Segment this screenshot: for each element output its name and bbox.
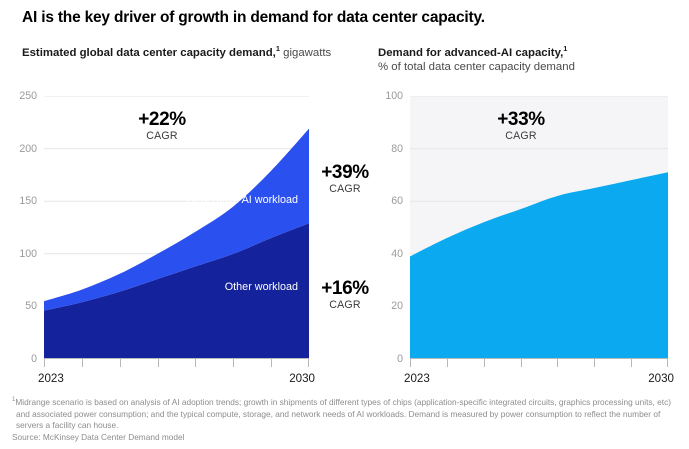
- advanced-ai-share-xtick-mark: [484, 359, 485, 367]
- capacity-demand-xtick-mark: [271, 359, 272, 367]
- total-cagr-label: CAGR: [108, 131, 216, 142]
- other-cagr-label: CAGR: [306, 300, 384, 311]
- advanced-ai-share-xtick-end: 2030: [648, 372, 674, 385]
- total-cagr-value: +22%: [108, 110, 216, 129]
- footnotes: 1Midrange scenario is based on analysis …: [12, 396, 678, 444]
- advanced-ai-share-xtick-mark: [447, 359, 448, 367]
- capacity-demand-ytick-50: 50: [25, 300, 37, 312]
- advanced-ai-share-xtick-mark: [667, 359, 668, 367]
- capacity-demand-ytick-250: 250: [19, 90, 37, 102]
- genai-cagr-annotation: +39% CAGR: [306, 163, 384, 195]
- advanced-ai-share-ytick-40: 40: [391, 248, 403, 260]
- advanced-ai-share-xtick-mark: [557, 359, 558, 367]
- generative-ai-series-label: Generative AI workload: [180, 194, 298, 207]
- left-chart-title: Estimated global data center capacity de…: [22, 44, 342, 61]
- capacity-demand-xtick-end: 2030: [289, 372, 315, 385]
- advanced-ai-share-xtick-mark: [631, 359, 632, 367]
- infographic-root: AI is the key driver of growth in demand…: [0, 0, 689, 449]
- page-title: AI is the key driver of growth in demand…: [22, 8, 662, 27]
- capacity-demand-xtick-mark: [158, 359, 159, 367]
- capacity-demand-xtick-mark: [82, 359, 83, 367]
- footnote-1: 1Midrange scenario is based on analysis …: [12, 396, 678, 432]
- capacity-demand-xtick-mark: [195, 359, 196, 367]
- advanced-ai-share-xtick-mark: [594, 359, 595, 367]
- advanced-ai-share-ytick-0: 0: [397, 353, 403, 365]
- capacity-demand-xtick-mark: [120, 359, 121, 367]
- advanced-ai-share-xtick-start: 2023: [404, 372, 430, 385]
- other-cagr-annotation: +16% CAGR: [306, 279, 384, 311]
- capacity-demand-xtick-mark: [44, 359, 45, 367]
- right-chart-title: Demand for advanced-AI capacity,1: [378, 44, 668, 61]
- capacity-demand-xtick-mark: [308, 359, 309, 367]
- capacity-demand-ytick-200: 200: [19, 143, 37, 155]
- footnote-1-text: Midrange scenario is based on analysis o…: [15, 397, 671, 431]
- left-chart-title-unit: gigawatts: [280, 47, 331, 59]
- advanced-ai-share-xtick-mark: [410, 359, 411, 367]
- capacity-demand-ytick-0: 0: [31, 353, 37, 365]
- advanced-ai-share-ytick-20: 20: [391, 300, 403, 312]
- total-cagr-annotation: +22% CAGR: [108, 110, 216, 142]
- source-line: Source: McKinsey Data Center Demand mode…: [12, 432, 678, 444]
- capacity-demand-ytick-150: 150: [19, 195, 37, 207]
- right-chart-heading: Demand for advanced-AI capacity,1 % of t…: [378, 44, 668, 73]
- right-chart-title-text: Demand for advanced-AI capacity,: [378, 47, 563, 59]
- advanced-ai-share-ytick-60: 60: [391, 195, 403, 207]
- genai-cagr-label: CAGR: [306, 184, 384, 195]
- capacity-demand-xtick-mark: [233, 359, 234, 367]
- right-chart-title-footnote-marker: 1: [563, 44, 567, 53]
- advanced-ai-share-xtick-mark: [521, 359, 522, 367]
- other-workload-series-label: Other workload: [196, 281, 298, 294]
- advanced-ai-share-ytick-100: 100: [385, 90, 403, 102]
- capacity-demand-x-ticks: [44, 359, 309, 368]
- other-cagr-value: +16%: [306, 279, 384, 298]
- advanced-cagr-annotation: +33% CAGR: [466, 110, 576, 142]
- left-chart-heading: Estimated global data center capacity de…: [22, 44, 342, 61]
- advanced-ai-share-x-ticks: [410, 359, 668, 368]
- capacity-demand-xtick-start: 2023: [38, 372, 64, 385]
- advanced-ai-share-ytick-80: 80: [391, 143, 403, 155]
- advanced-cagr-label: CAGR: [466, 131, 576, 142]
- left-chart-title-text: Estimated global data center capacity de…: [22, 47, 276, 59]
- advanced-cagr-value: +33%: [466, 110, 576, 129]
- genai-cagr-value: +39%: [306, 163, 384, 182]
- right-chart-subtitle: % of total data center capacity demand: [378, 61, 668, 73]
- capacity-demand-ytick-100: 100: [19, 248, 37, 260]
